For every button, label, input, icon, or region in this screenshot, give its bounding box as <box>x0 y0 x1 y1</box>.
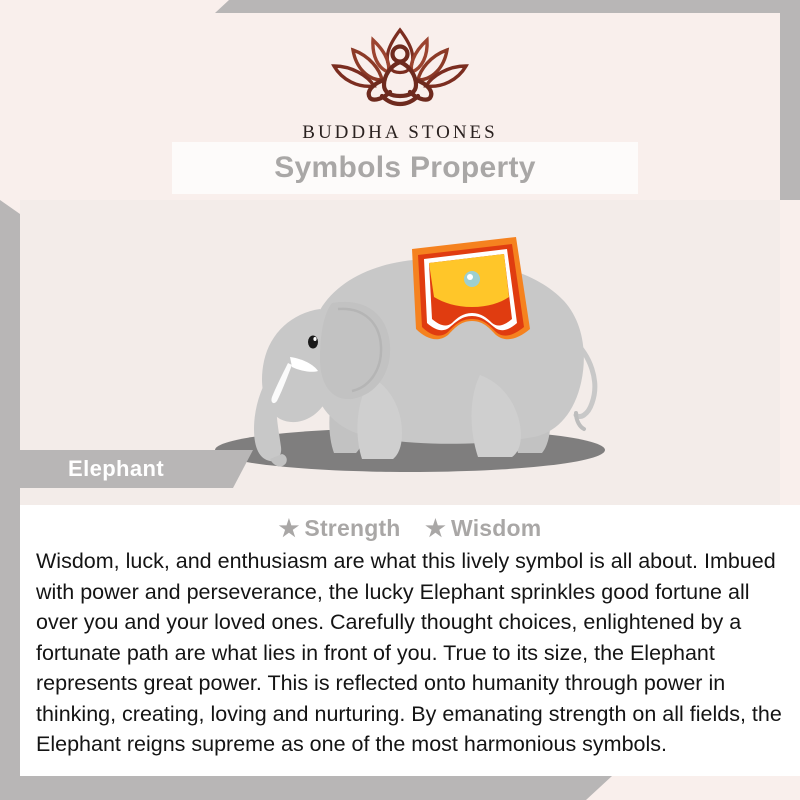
brand-name: BUDDHA STONES <box>0 122 800 144</box>
symbol-name: Elephant <box>68 456 164 482</box>
attribute-strength-label: Strength <box>304 515 400 541</box>
lotus-meditation-figure-icon <box>310 22 490 118</box>
attribute-strength: ★Strength <box>279 515 401 542</box>
attributes-row: ★Strength ★Wisdom <box>20 515 800 542</box>
description-card: ★Strength ★Wisdom Wisdom, luck, and enth… <box>20 505 800 776</box>
elephant-eye <box>308 336 318 349</box>
frame-left-lower-bar <box>0 456 20 776</box>
star-icon: ★ <box>279 515 300 541</box>
star-icon: ★ <box>425 515 446 541</box>
frame-left-bar <box>0 200 20 456</box>
title-band: Symbols Property <box>172 142 638 194</box>
frame-top-strip <box>215 0 800 13</box>
frame-bottom-bar <box>0 776 612 800</box>
page-title: Symbols Property <box>274 151 536 185</box>
brand-logo: BUDDHA STONES <box>0 22 800 144</box>
symbol-property-card: BUDDHA STONES Symbols Property <box>0 0 800 800</box>
attribute-wisdom-label: Wisdom <box>451 515 541 541</box>
attribute-wisdom: ★Wisdom <box>425 515 541 542</box>
symbol-name-ribbon: Elephant <box>20 450 253 488</box>
description-text: Wisdom, luck, and enthusiasm are what th… <box>36 546 782 760</box>
